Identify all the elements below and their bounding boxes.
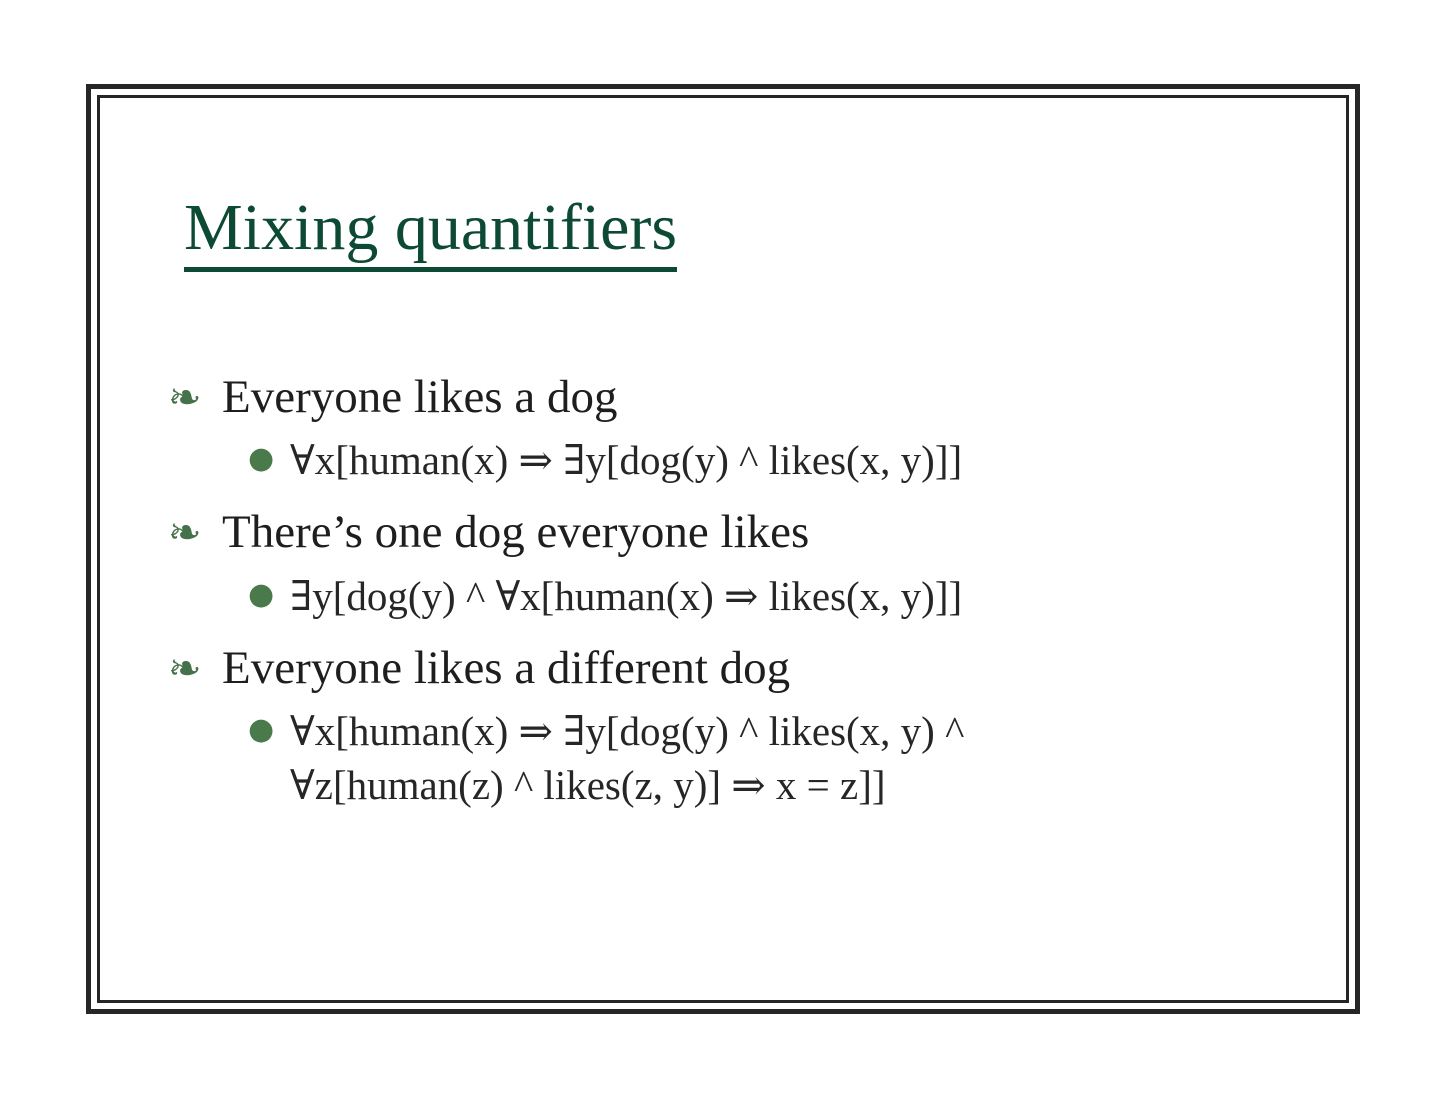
formula-block: ∀x[human(x) ⇒ ∃y[dog(y) ^ likes(x, y)]] bbox=[290, 433, 1190, 487]
slide-content-list: ❧ Everyone likes a dog ● ∀x[human(x) ⇒ ∃… bbox=[168, 368, 1288, 828]
list-item: ❧ Everyone likes a dog bbox=[168, 368, 1288, 427]
formula-block: ∃y[dog(y) ^ ∀x[human(x) ⇒ likes(x, y)]] bbox=[290, 569, 1190, 623]
page-title: Mixing quantifiers bbox=[184, 194, 677, 272]
sub-list-item: ● ∀x[human(x) ⇒ ∃y[dog(y) ^ likes(x, y)]… bbox=[168, 433, 1288, 487]
list-item: ❧ Everyone likes a different dog bbox=[168, 639, 1288, 698]
formula-line: ∀x[human(x) ⇒ ∃y[dog(y) ^ likes(x, y) ^ bbox=[290, 704, 1190, 758]
list-item-label: Everyone likes a dog bbox=[222, 368, 1288, 427]
leaf-bullet-icon: ❧ bbox=[168, 503, 222, 559]
leaf-bullet-icon: ❧ bbox=[168, 368, 222, 424]
formula-line: ∀x[human(x) ⇒ ∃y[dog(y) ^ likes(x, y)]] bbox=[290, 433, 1190, 487]
formula-line: ∀z[human(z) ^ likes(z, y)] ⇒ x = z]] bbox=[290, 758, 1190, 812]
leaf-bullet-icon: ❧ bbox=[168, 639, 222, 695]
list-item: ❧ There’s one dog everyone likes bbox=[168, 503, 1288, 562]
dot-bullet-icon: ● bbox=[248, 433, 290, 477]
list-item-label: Everyone likes a different dog bbox=[222, 639, 1288, 698]
slide-frame-inner: Mixing quantifiers ❧ Everyone likes a do… bbox=[97, 95, 1349, 1003]
dot-bullet-icon: ● bbox=[248, 704, 290, 748]
slide-body: Mixing quantifiers ❧ Everyone likes a do… bbox=[100, 98, 1346, 1000]
sub-list-item: ● ∀x[human(x) ⇒ ∃y[dog(y) ^ likes(x, y) … bbox=[168, 704, 1288, 812]
slide-frame-outer: Mixing quantifiers ❧ Everyone likes a do… bbox=[86, 84, 1360, 1014]
slide-title-block: Mixing quantifiers bbox=[184, 194, 1244, 272]
formula-line: ∃y[dog(y) ^ ∀x[human(x) ⇒ likes(x, y)]] bbox=[290, 569, 1190, 623]
sub-list-item: ● ∃y[dog(y) ^ ∀x[human(x) ⇒ likes(x, y)]… bbox=[168, 569, 1288, 623]
list-item-label: There’s one dog everyone likes bbox=[222, 503, 1288, 562]
formula-block: ∀x[human(x) ⇒ ∃y[dog(y) ^ likes(x, y) ^ … bbox=[290, 704, 1190, 812]
dot-bullet-icon: ● bbox=[248, 569, 290, 613]
